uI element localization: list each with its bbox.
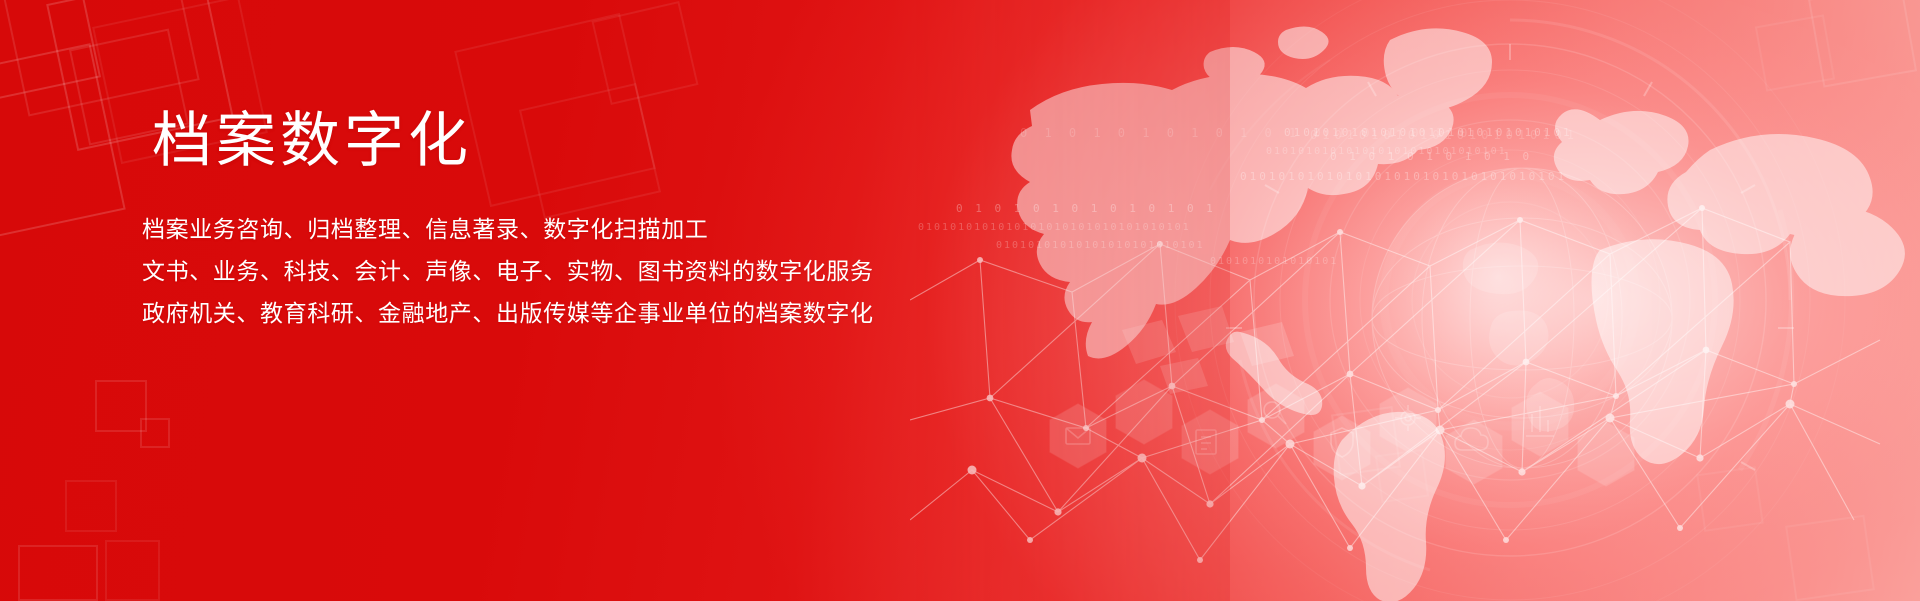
glow-ellipse	[990, 0, 1920, 601]
decor-square	[105, 540, 160, 601]
binary-row: 0 1 0 1 0 1 0 1 0 1 0 1 0 1 0 1 0 1 0	[1020, 126, 1472, 140]
decor-square	[1375, 449, 1429, 503]
decor-square	[140, 418, 170, 448]
ribbon-shapes	[1122, 306, 1294, 394]
subtitle-line: 政府机关、教育科研、金融地产、出版传媒等企事业单位的档案数字化	[142, 292, 902, 334]
binary-row: 0101010101010101010101010101010101	[918, 222, 1191, 233]
page-title: 档案数字化	[152, 108, 902, 174]
decor-square	[1696, 466, 1763, 532]
binary-row: 0101010101010101010101010101010101	[1240, 170, 1567, 183]
subtitle-line: 档案业务咨询、归档整理、信息著录、数字化扫描加工	[142, 208, 902, 250]
decor-square	[65, 480, 117, 532]
network-node	[968, 205, 1798, 563]
world-map-silhouette	[1011, 26, 1905, 601]
decor-square	[1785, 515, 1875, 601]
globe-sphere	[1372, 168, 1672, 468]
gear-icon	[1395, 405, 1421, 431]
binary-row: 0 1 0 1 0 1 0 1 0 1 0	[1330, 150, 1532, 163]
hex-cell	[1512, 392, 1568, 456]
hex-cell	[1116, 380, 1172, 444]
banner-copy: 档案数字化 档案业务咨询、归档整理、信息著录、数字化扫描加工 文书、业务、科技、…	[142, 108, 902, 334]
decor-square	[18, 545, 98, 601]
binary-row: 01010101010101010101010101	[996, 240, 1205, 251]
hex-cell	[1248, 384, 1304, 448]
binary-row: 0101010101010101010101	[1310, 128, 1579, 142]
chart-icon	[1526, 406, 1554, 436]
hud-tick-marks	[1226, 44, 1794, 470]
decor-square	[1808, 0, 1917, 88]
hex-cell	[1050, 404, 1106, 468]
globe-continents	[1463, 242, 1574, 431]
hex-cell	[1578, 422, 1634, 486]
binary-row: 010101010101010101010101010101	[1266, 146, 1507, 157]
decor-square	[591, 1, 698, 105]
graphic-left-fade	[910, 0, 1230, 601]
hex-cell	[1182, 410, 1238, 474]
hex-cell	[1446, 420, 1502, 484]
search-icon	[1264, 402, 1286, 424]
document-icon	[1196, 430, 1216, 454]
binary-row: 010101010101010101010101010101	[1284, 126, 1573, 139]
cloud-icon	[1455, 428, 1488, 450]
subtitle-list: 档案业务咨询、归档整理、信息著录、数字化扫描加工 文书、业务、科技、会计、声像、…	[142, 208, 902, 334]
binary-row: 0 1 0 1 0 1 0 1 0 1 0 1 0 1	[956, 202, 1216, 215]
binary-row: 0101010101010101	[1210, 256, 1338, 267]
mail-icon	[1066, 428, 1090, 444]
hero-banner: 0 1 0 1 0 1 0 1 0 1 0 1 0 1 010101010101…	[0, 0, 1920, 601]
subtitle-line: 文书、业务、科技、会计、声像、电子、实物、图书资料的数字化服务	[142, 250, 902, 292]
